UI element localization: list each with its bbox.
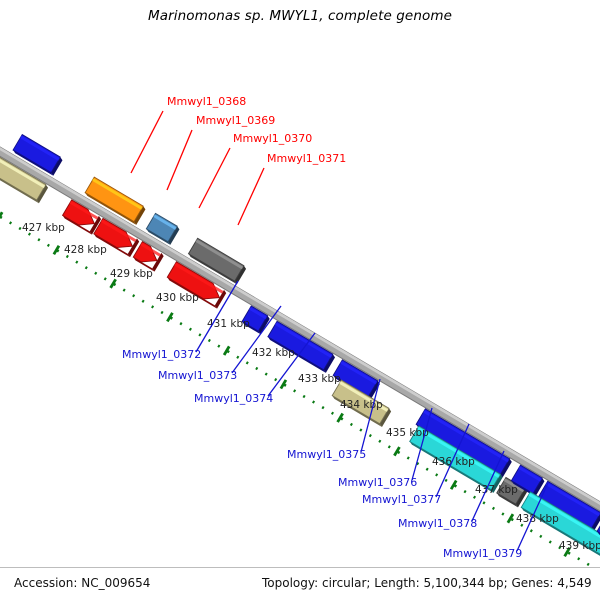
- scale-tick-label: 432 kbp: [252, 347, 295, 359]
- gene-label-layer[interactable]: Mmwyl1_0368Mmwyl1_0369Mmwyl1_0370Mmwyl1_…: [122, 95, 522, 560]
- gene-leader-line: [167, 130, 192, 190]
- gene-label[interactable]: Mmwyl1_0372: [122, 348, 201, 361]
- scale-tick-label: 427 kbp: [22, 222, 65, 234]
- gene-label[interactable]: Mmwyl1_0377: [362, 493, 441, 506]
- gene-leader-line: [131, 111, 163, 173]
- gene-leader-line: [238, 168, 264, 225]
- gene-label[interactable]: Mmwyl1_0374: [194, 392, 273, 405]
- gene-label[interactable]: Mmwyl1_0368: [167, 95, 246, 108]
- accession-text: Accession: NC_009654: [14, 576, 150, 590]
- gene-label[interactable]: Mmwyl1_0369: [196, 114, 275, 127]
- gene-label[interactable]: Mmwyl1_0370: [233, 132, 312, 145]
- scale-tick-label: 435 kbp: [386, 427, 429, 439]
- scale-tick-label: 431 kbp: [207, 318, 250, 330]
- gene-leader-line: [199, 148, 230, 208]
- gene-label[interactable]: Mmwyl1_0379: [443, 547, 522, 560]
- page-title: Marinomonas sp. MWYL1, complete genome: [0, 8, 600, 24]
- gene-label[interactable]: Mmwyl1_0373: [158, 369, 237, 382]
- scale-tick-label: 433 kbp: [298, 373, 341, 385]
- scale-tick-label: 434 kbp: [340, 399, 383, 411]
- gene-label[interactable]: Mmwyl1_0371: [267, 152, 346, 165]
- genome-map-canvas[interactable]: 427 kbp428 kbp429 kbp430 kbp431 kbp432 k…: [0, 0, 600, 600]
- gene-label[interactable]: Mmwyl1_0375: [287, 448, 366, 461]
- gene-label[interactable]: Mmwyl1_0376: [338, 476, 417, 489]
- scale-tick-label: 438 kbp: [516, 513, 559, 525]
- topology-text: Topology: circular; Length: 5,100,344 bp…: [262, 576, 592, 590]
- scale-tick-label: 429 kbp: [110, 268, 153, 280]
- genome-map-viewer[interactable]: Marinomonas sp. MWYL1, complete genome 4…: [0, 0, 600, 600]
- gene-label[interactable]: Mmwyl1_0378: [398, 517, 477, 530]
- scale-tick-label: 439 kbp: [559, 540, 600, 552]
- status-bar: Accession: NC_009654 Topology: circular;…: [0, 567, 600, 600]
- scale-tick-label: 430 kbp: [156, 292, 199, 304]
- scale-tick-label: 437 kbp: [475, 484, 518, 496]
- scale-tick-label: 428 kbp: [64, 244, 107, 256]
